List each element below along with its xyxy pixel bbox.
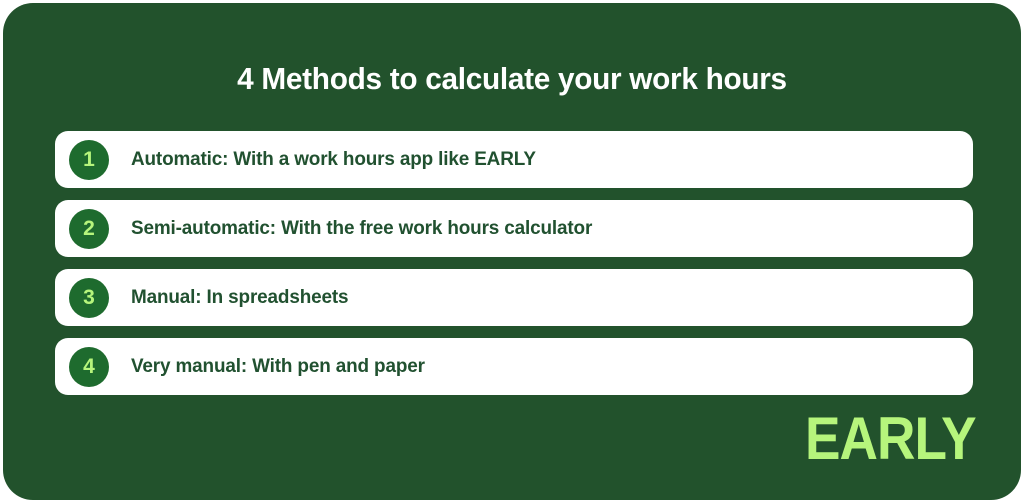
- item-number-badge: 4: [69, 347, 109, 387]
- list-item-label: Automatic: With a work hours app like EA…: [131, 148, 536, 171]
- methods-list: 1 Automatic: With a work hours app like …: [55, 131, 973, 395]
- list-item[interactable]: 1 Automatic: With a work hours app like …: [55, 131, 973, 188]
- list-item[interactable]: 4 Very manual: With pen and paper: [55, 338, 973, 395]
- item-number-badge: 3: [69, 278, 109, 318]
- early-logo: EARLY: [805, 408, 976, 468]
- list-item[interactable]: 3 Manual: In spreadsheets: [55, 269, 973, 326]
- list-item-label: Manual: In spreadsheets: [131, 286, 348, 309]
- item-number-badge: 1: [69, 140, 109, 180]
- infographic-card: 4 Methods to calculate your work hours 1…: [3, 3, 1021, 500]
- page-title: 4 Methods to calculate your work hours: [23, 59, 1000, 99]
- list-item-label: Very manual: With pen and paper: [131, 355, 425, 378]
- list-item[interactable]: 2 Semi-automatic: With the free work hou…: [55, 200, 973, 257]
- item-number-badge: 2: [69, 209, 109, 249]
- list-item-label: Semi-automatic: With the free work hours…: [131, 217, 592, 240]
